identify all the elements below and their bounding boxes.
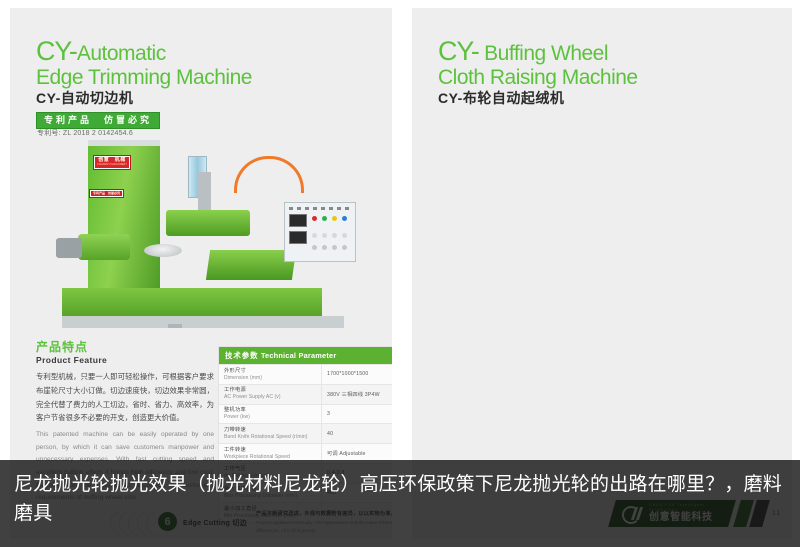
left-spec-header-cn: 技术参数: [225, 351, 259, 360]
left-title-cy-prefix: CY-: [36, 36, 77, 66]
left-feature-body-cn: 专利型机械，只要一人即可轻松操作，可根据客户要求布崖轮尺寸大小订做。切边速度快，…: [36, 370, 214, 425]
spec-row-label-cn: 整机功率: [224, 407, 316, 414]
spec-row-value: 40: [322, 424, 392, 443]
spec-row-label-en: Power (kw): [224, 414, 316, 421]
spec-row-label-en: Band Knife Rotational Speed (r/min): [224, 434, 316, 441]
left-machine-notice-text: 专利产品 仿冒必究: [93, 191, 120, 195]
left-feature-heading-cn: 产品特点: [36, 340, 214, 354]
right-title-english: CY- Buffing Wheel Cloth Raising Machine: [438, 36, 638, 90]
left-title-chinese: CY-自动切边机: [36, 88, 133, 108]
left-feature-heading-en: Product Feature: [36, 355, 214, 365]
left-machine-control-panel: [284, 202, 356, 262]
left-machine-motor: [78, 234, 130, 260]
left-title-line1: Automatic: [77, 42, 166, 65]
right-title-line2: Cloth Raising Machine: [438, 66, 638, 90]
spec-row: 工作电源AC Power Supply AC (v)380V 三相四线 3P4W: [219, 384, 392, 404]
caption-overlay: 尼龙抛光轮抛光效果（抛光材料尼龙轮）高压环保政策下尼龙抛光轮的出路在哪里？，磨料…: [0, 460, 800, 547]
spec-row-value: 3: [322, 405, 392, 424]
spec-row-label-en: AC Power Supply AC (v): [224, 394, 316, 401]
left-machine-leg: [168, 324, 182, 328]
spec-row-label-cn: 工件转速: [224, 447, 316, 454]
right-title-cy-prefix: CY-: [438, 36, 479, 66]
spec-row-value: 1700*1000*1500: [322, 365, 392, 384]
left-machine-motor-housing: [56, 238, 82, 258]
left-spec-header: 技术参数 Technical Parameter: [219, 347, 392, 364]
spec-row-label-cn: 工作电源: [224, 387, 316, 394]
patent-badge: 专利产品 仿冒必究: [36, 112, 160, 129]
patent-number: 专利号: ZL 2018 2 0142454.6: [37, 128, 133, 138]
spec-row: 整机功率Power (kw)3: [219, 404, 392, 424]
right-title-chinese: CY-布轮自动起绒机: [438, 88, 564, 108]
spec-row-label-cn: 外形尺寸: [224, 368, 316, 375]
catalog-page: CY-Automatic Edge Trimming Machine CY-自动…: [0, 0, 800, 547]
right-title-line1: Buffing Wheel: [484, 42, 608, 65]
spec-row-label: 外形尺寸Dimension (mm): [219, 365, 322, 384]
left-machine-worktable: [206, 250, 296, 280]
spec-row: 外形尺寸Dimension (mm)1700*1000*1500: [219, 364, 392, 384]
spec-row-label: 刀带转速Band Knife Rotational Speed (r/min): [219, 424, 322, 443]
spec-row-label: 整机功率Power (kw): [219, 405, 322, 424]
left-machine-base-plinth: [62, 316, 344, 328]
spec-row-label: 工作电源AC Power Supply AC (v): [219, 385, 322, 404]
spec-row-label-en: Dimension (mm): [224, 375, 316, 382]
left-title-english: CY-Automatic Edge Trimming Machine: [36, 36, 252, 90]
spec-row: 刀带转速Band Knife Rotational Speed (r/min)4…: [219, 423, 392, 443]
left-machine-photo: 创意 机械 CHUANGYI MACHINERY 专利产品 仿冒必究: [48, 138, 378, 328]
spec-row-value: 380V 三相四线 3P4W: [322, 385, 392, 404]
left-machine-notice-label: 专利产品 仿冒必究: [90, 190, 123, 197]
left-machine-wheel: [144, 244, 182, 257]
left-machine-brand-label: 创意 机械 CHUANGYI MACHINERY: [94, 156, 130, 169]
left-machine-orange-hose: [234, 156, 304, 193]
left-machine-head: [166, 210, 250, 236]
left-spec-header-en: Technical Parameter: [261, 351, 337, 360]
left-title-line2: Edge Trimming Machine: [36, 66, 252, 90]
left-machine-brand-sub: CHUANGYI MACHINERY: [97, 164, 127, 167]
spec-row-label-cn: 刀带转速: [224, 427, 316, 434]
